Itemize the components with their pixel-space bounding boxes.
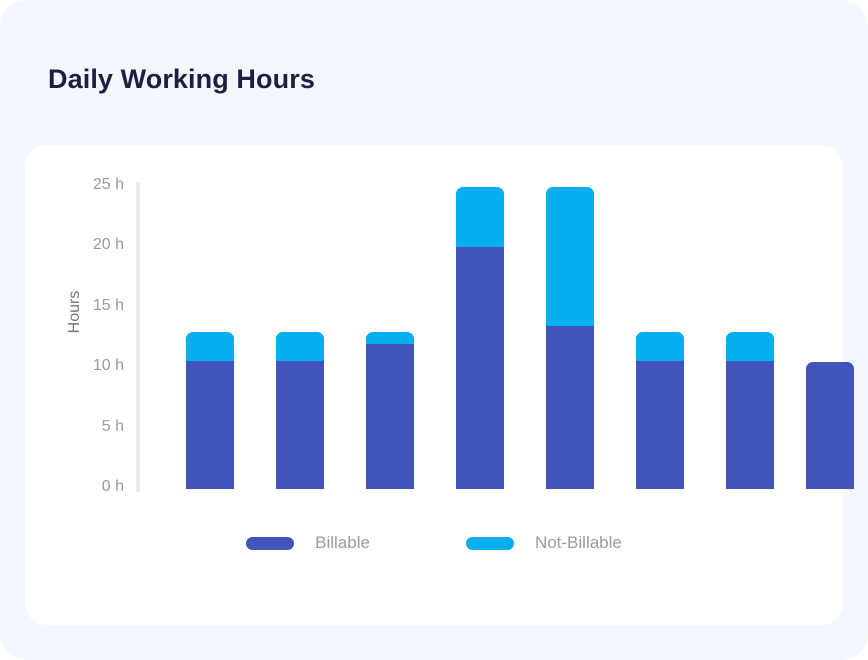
bar-segment-not-billable[interactable] xyxy=(366,332,414,344)
bar-stack xyxy=(186,332,234,489)
bars-layer xyxy=(25,145,843,625)
legend-label-not-billable: Not-Billable xyxy=(535,533,622,553)
legend-swatch-not-billable-icon xyxy=(466,537,514,550)
legend-item-billable[interactable]: Billable xyxy=(246,533,370,553)
bar-group[interactable] xyxy=(276,332,324,489)
legend-item-not-billable[interactable]: Not-Billable xyxy=(466,533,622,553)
bar-segment-billable[interactable] xyxy=(276,361,324,489)
bar-stack xyxy=(636,332,684,489)
bar-segment-billable[interactable] xyxy=(636,361,684,489)
bar-group[interactable] xyxy=(546,187,594,490)
bar-stack xyxy=(366,332,414,489)
bar-group[interactable] xyxy=(726,332,774,489)
bar-group[interactable] xyxy=(186,332,234,489)
page-title: Daily Working Hours xyxy=(48,64,315,95)
chart-widget-root: Daily Working Hours Hours 0 h5 h10 h15 h… xyxy=(0,0,868,660)
bar-stack xyxy=(806,362,854,489)
bar-group[interactable] xyxy=(636,332,684,489)
bar-group[interactable] xyxy=(366,332,414,489)
bar-segment-not-billable[interactable] xyxy=(546,187,594,326)
bar-segment-not-billable[interactable] xyxy=(186,332,234,361)
chart-legend: Billable Not-Billable xyxy=(25,533,843,553)
bar-segment-not-billable[interactable] xyxy=(636,332,684,361)
plot-area: Hours 0 h5 h10 h15 h20 h25 h Billable No… xyxy=(25,145,843,625)
bar-stack xyxy=(276,332,324,489)
bar-group[interactable] xyxy=(806,362,854,489)
bar-group[interactable] xyxy=(456,187,504,490)
bar-segment-billable[interactable] xyxy=(186,361,234,489)
bar-segment-billable[interactable] xyxy=(456,247,504,489)
bar-segment-billable[interactable] xyxy=(366,344,414,489)
chart-card: Hours 0 h5 h10 h15 h20 h25 h Billable No… xyxy=(25,145,843,625)
bar-stack xyxy=(456,187,504,490)
bar-segment-not-billable[interactable] xyxy=(276,332,324,361)
bar-segment-not-billable[interactable] xyxy=(726,332,774,361)
bar-stack xyxy=(546,187,594,490)
bar-segment-billable[interactable] xyxy=(546,326,594,489)
bar-segment-not-billable[interactable] xyxy=(456,187,504,248)
bar-stack xyxy=(726,332,774,489)
legend-label-billable: Billable xyxy=(315,533,370,553)
bar-segment-billable[interactable] xyxy=(726,361,774,489)
bar-segment-billable[interactable] xyxy=(806,362,854,489)
legend-swatch-billable-icon xyxy=(246,537,294,550)
